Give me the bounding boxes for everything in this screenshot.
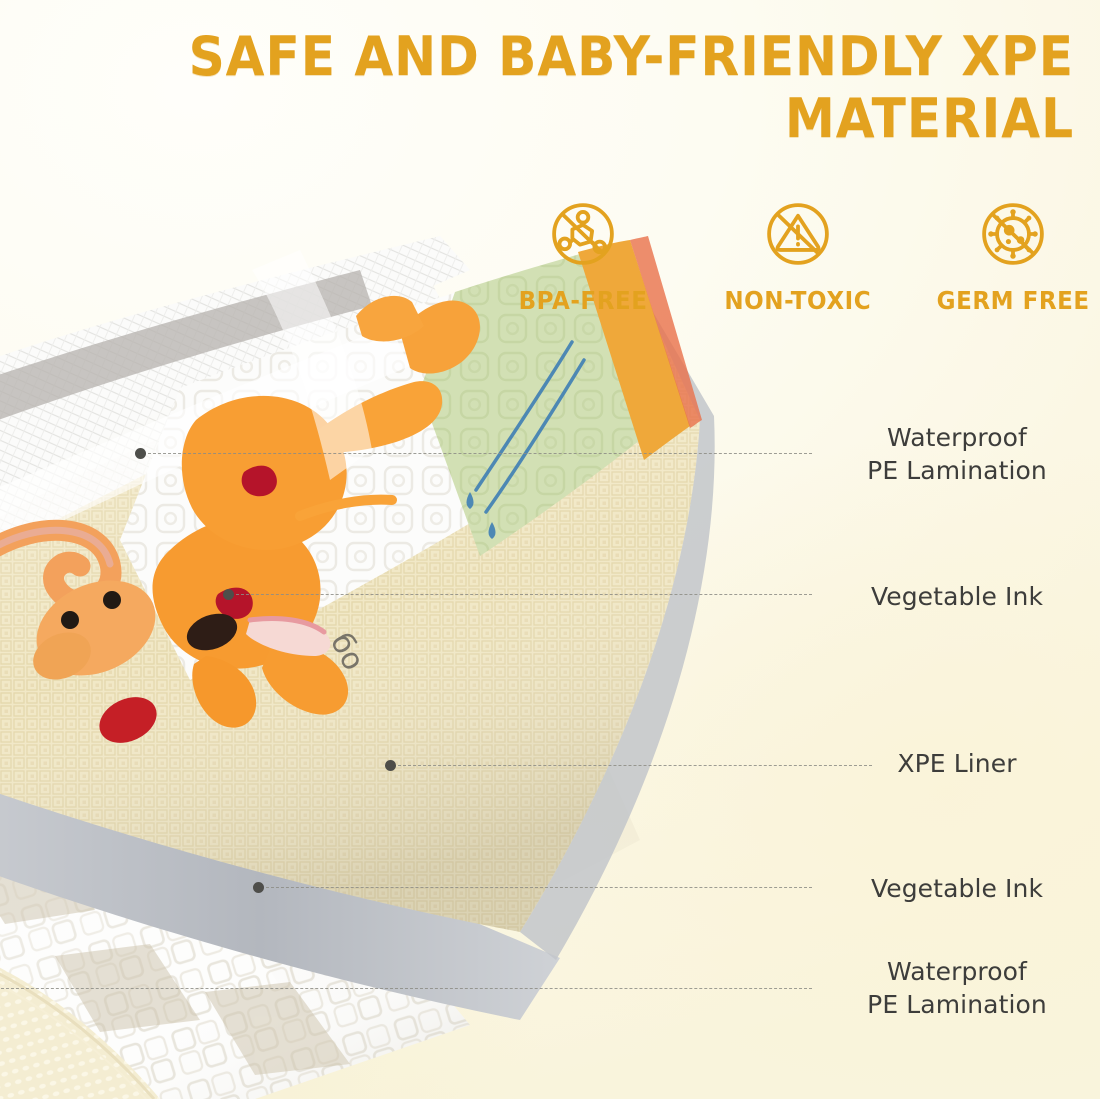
page-title: SAFE AND BABY-FRIENDLY XPE MATERIAL	[0, 26, 1100, 150]
layer-label: Vegetable Ink	[832, 580, 1082, 613]
badge-non-toxic: NON-TOXIC	[713, 196, 883, 315]
title-line-1: SAFE AND BABY-FRIENDLY XPE	[75, 26, 1074, 88]
germ-free-icon	[975, 196, 1051, 272]
layer-label: Vegetable Ink	[832, 872, 1082, 905]
badge-bpa-free: BPA-FREE	[498, 196, 668, 315]
layer-label: Waterproof PE Lamination	[832, 955, 1082, 1021]
title-line-2: MATERIAL	[75, 88, 1074, 150]
infographic-canvas: бо SAFE AND BABY-FRIENDLY XPE MATERIAL	[0, 0, 1100, 1099]
layer-label: Waterproof PE Lamination	[832, 421, 1082, 487]
certification-badges: BPA-FREE NON-TOXIC	[498, 196, 1098, 346]
badge-label: BPA-FREE	[519, 286, 648, 315]
layer-label: XPE Liner	[832, 747, 1082, 780]
badge-germ-free: GERM FREE	[928, 196, 1098, 315]
badge-label: GERM FREE	[936, 286, 1089, 315]
badge-label: NON-TOXIC	[725, 286, 872, 315]
bpa-free-icon	[545, 196, 621, 272]
non-toxic-icon	[760, 196, 836, 272]
